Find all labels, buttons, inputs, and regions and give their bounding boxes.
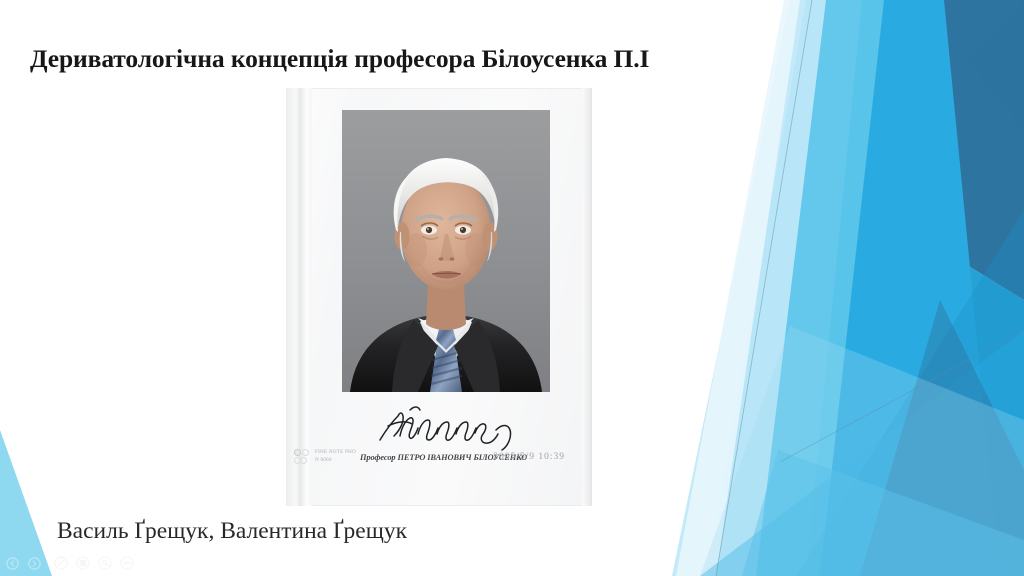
next-slide-button[interactable]	[24, 553, 45, 574]
camera-dial-icon	[294, 448, 312, 466]
slideshow-toolbar[interactable]	[2, 552, 137, 574]
photo-caption-overlay: FINE NOTE PHO N 0000 Професор ПЕТРО ІВАН…	[294, 444, 586, 470]
decor-pale-wedge	[672, 0, 826, 576]
previous-slide-button[interactable]	[2, 553, 23, 574]
portrait-photograph	[342, 110, 550, 392]
decor-translucent-triangle-a	[796, 210, 1024, 576]
see-all-slides-button[interactable]	[72, 553, 93, 574]
zoom-button[interactable]	[94, 553, 115, 574]
slide-title: Дериватологічна концепція професора Біло…	[30, 44, 790, 74]
decor-hairline-1	[716, 0, 812, 576]
decor-translucent-triangle-d	[742, 450, 1024, 576]
decor-translucent-triangle-f	[968, 0, 1024, 130]
decor-dark-slab-2	[905, 262, 1024, 576]
camera-meta-text: FINE NOTE PHO N 0000	[315, 449, 356, 465]
decor-translucent-triangle-b	[700, 330, 1024, 576]
decor-mid-wedge	[806, 0, 1000, 576]
slide-authors: Василь Ґрещук, Валентина Ґрещук	[57, 518, 407, 545]
decor-translucent-triangle-e	[700, 326, 1024, 576]
more-options-button[interactable]	[116, 553, 137, 574]
camera-timestamp: 2005/5/9 10:39	[493, 452, 565, 462]
decor-translucent-triangle-c	[860, 300, 1024, 576]
decor-hairline-2	[780, 330, 1024, 462]
decor-paler-wedge	[676, 0, 800, 576]
scanned-photo-sheet: FINE NOTE PHO N 0000 Професор ПЕТРО ІВАН…	[286, 88, 592, 506]
decor-dark-slab	[924, 0, 1024, 300]
decor-light-wedge	[706, 0, 884, 576]
pen-tools-button[interactable]	[50, 553, 71, 574]
presentation-slide: Дериватологічна концепція професора Біло…	[0, 0, 1024, 576]
